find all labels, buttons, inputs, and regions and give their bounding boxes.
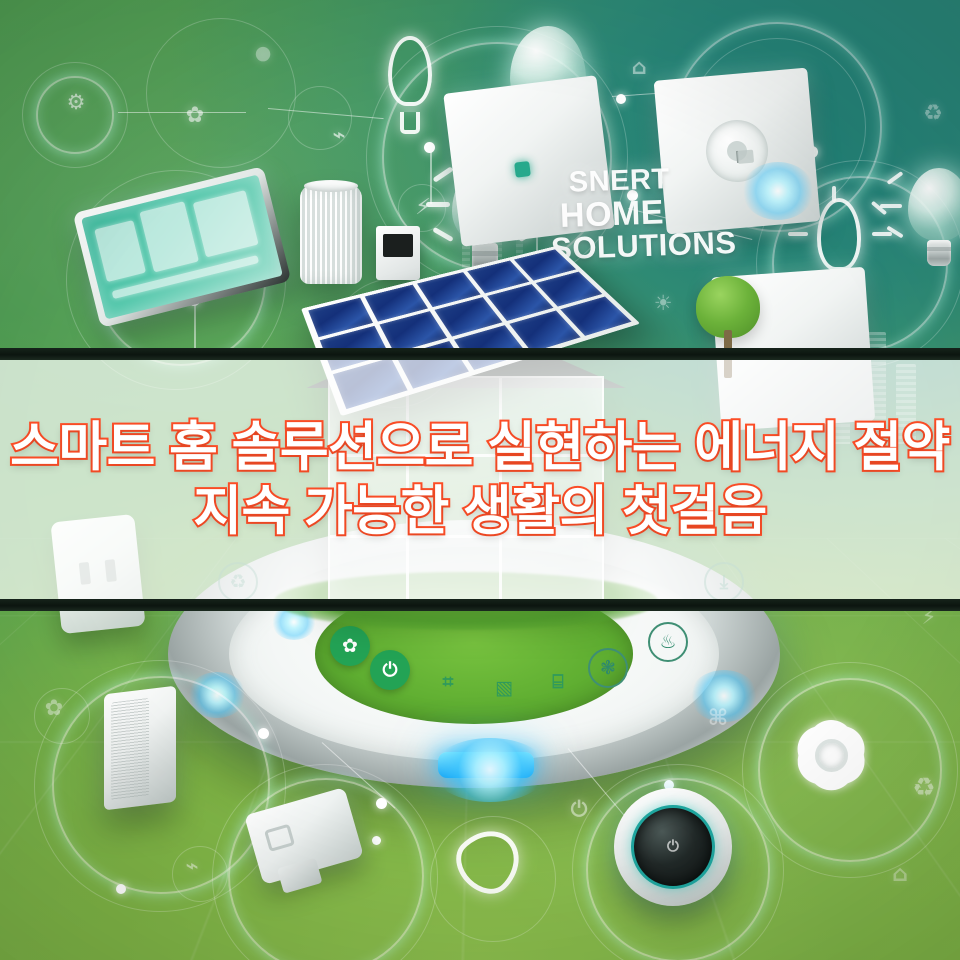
title-line-1: 스마트 홈 솔루션으로 실현하는 에너지 절약 [10, 418, 950, 477]
promo-image-canvas: ✿ ⏻ ⚙ ⌁ ⌘ ⚡ ⌂ ♨ ♻ ▭ ☀ ● [0, 0, 960, 960]
banner-rule-top [0, 348, 960, 360]
banner-rule-bottom [0, 599, 960, 611]
banner-text-block: 스마트 홈 솔루션으로 실현하는 에너지 절약 지속 가능한 생활의 첫걸음 [0, 360, 960, 599]
title-line-2: 지속 가능한 생활의 첫걸음 [193, 482, 767, 541]
